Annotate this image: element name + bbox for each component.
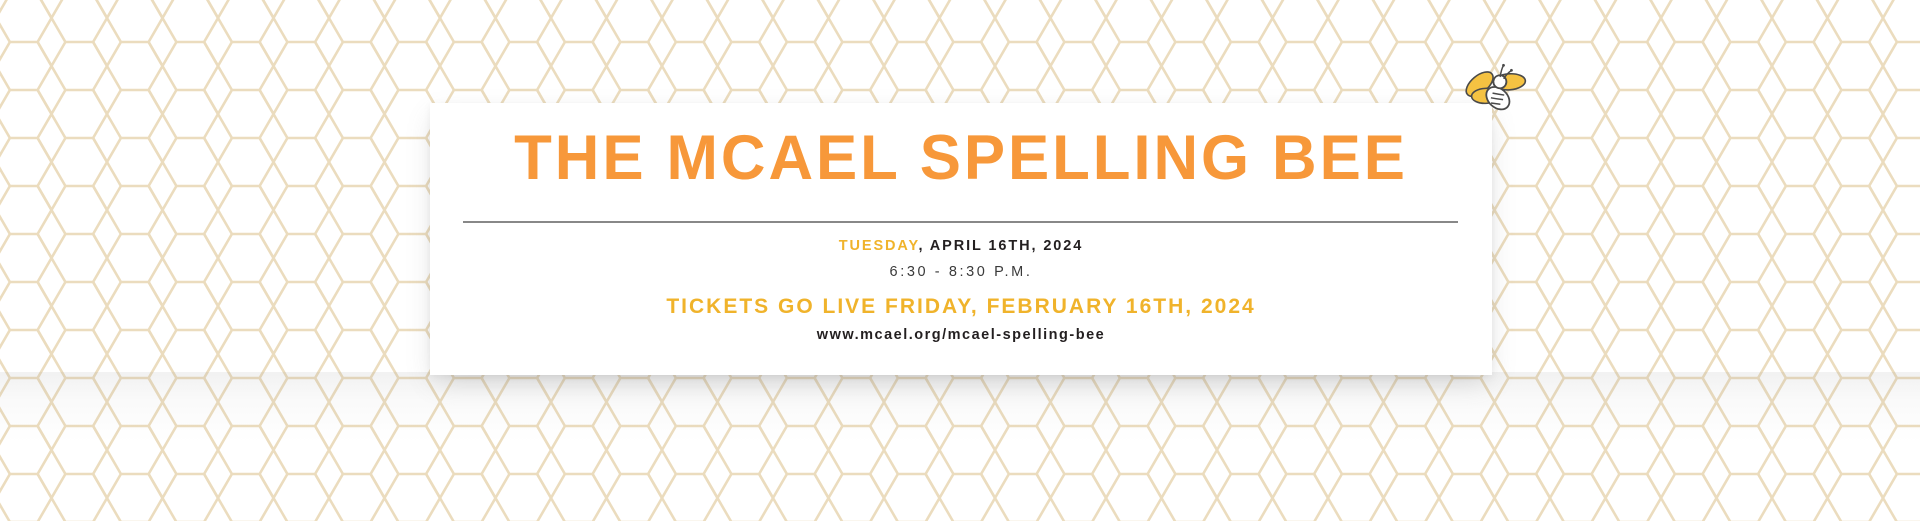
spelling-bee-banner: THE MCAEL SPELLING BEE TUESDAY, APRIL 16… [0, 0, 1920, 521]
tickets-announcement: TICKETS GO LIVE FRIDAY, FEBRUARY 16TH, 2… [430, 295, 1492, 319]
event-url[interactable]: www.mcael.org/mcael-spelling-bee [430, 327, 1492, 343]
bee-icon [1462, 56, 1532, 122]
event-day-of-week: TUESDAY [839, 238, 919, 254]
event-time: 6:30 - 8:30 P.M. [430, 264, 1492, 280]
divider [463, 221, 1458, 223]
page-title: THE MCAEL SPELLING BEE [441, 121, 1482, 195]
event-date: TUESDAY, APRIL 16TH, 2024 [430, 238, 1492, 254]
event-card: THE MCAEL SPELLING BEE TUESDAY, APRIL 16… [430, 103, 1492, 375]
event-date-rest: , APRIL 16TH, 2024 [918, 238, 1083, 254]
